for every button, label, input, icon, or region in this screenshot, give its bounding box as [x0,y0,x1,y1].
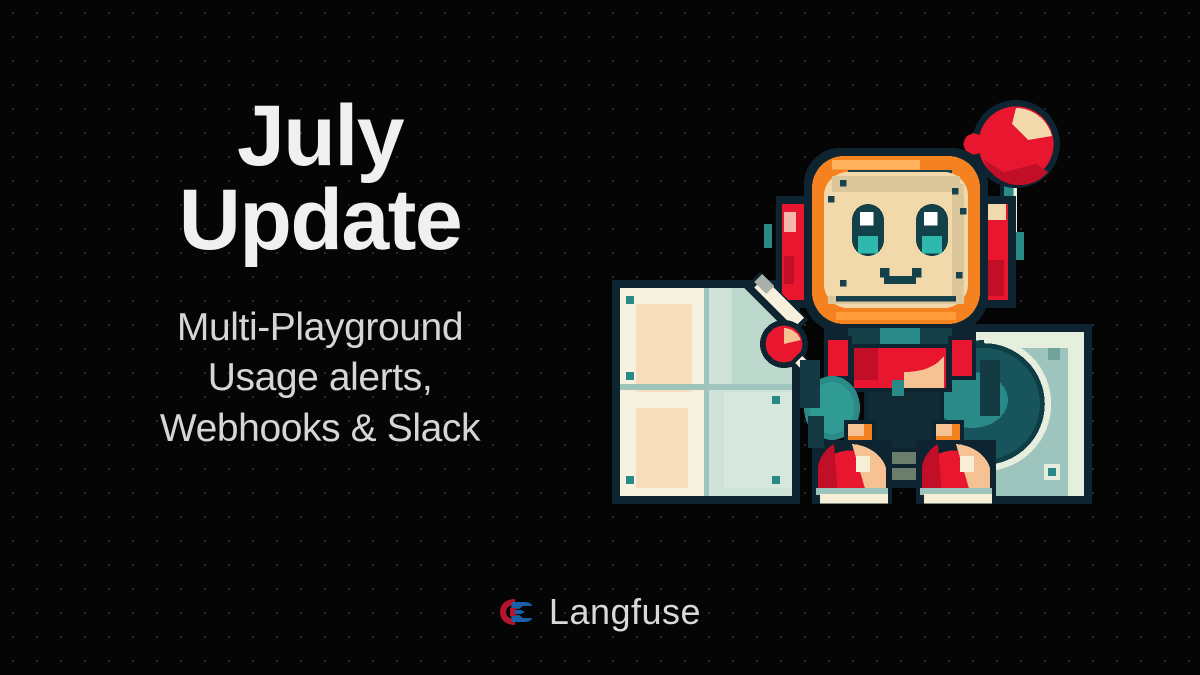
headline-line-1: July [179,94,461,178]
robot-head [804,148,988,332]
subtitle-line-3: Webhooks & Slack [160,404,480,455]
text-column: July Update Multi-Playground Usage alert… [0,94,600,455]
subtitle-line-2: Usage alerts, [160,353,480,404]
subtitle-line-1: Multi-Playground [160,303,480,354]
page-title: July Update [179,94,461,263]
brand-wordmark: Langfuse [549,591,701,633]
illustration-column [600,0,1200,567]
pixel-art-robot-illustration [600,96,1120,516]
footer-brand: Langfuse [0,567,1200,675]
langfuse-logo-icon [499,597,533,627]
headline-line-2: Update [179,178,461,262]
slide-root: July Update Multi-Playground Usage alert… [0,0,1200,675]
page-subtitle: Multi-Playground Usage alerts, Webhooks … [160,303,480,455]
content-row: July Update Multi-Playground Usage alert… [0,0,1200,567]
